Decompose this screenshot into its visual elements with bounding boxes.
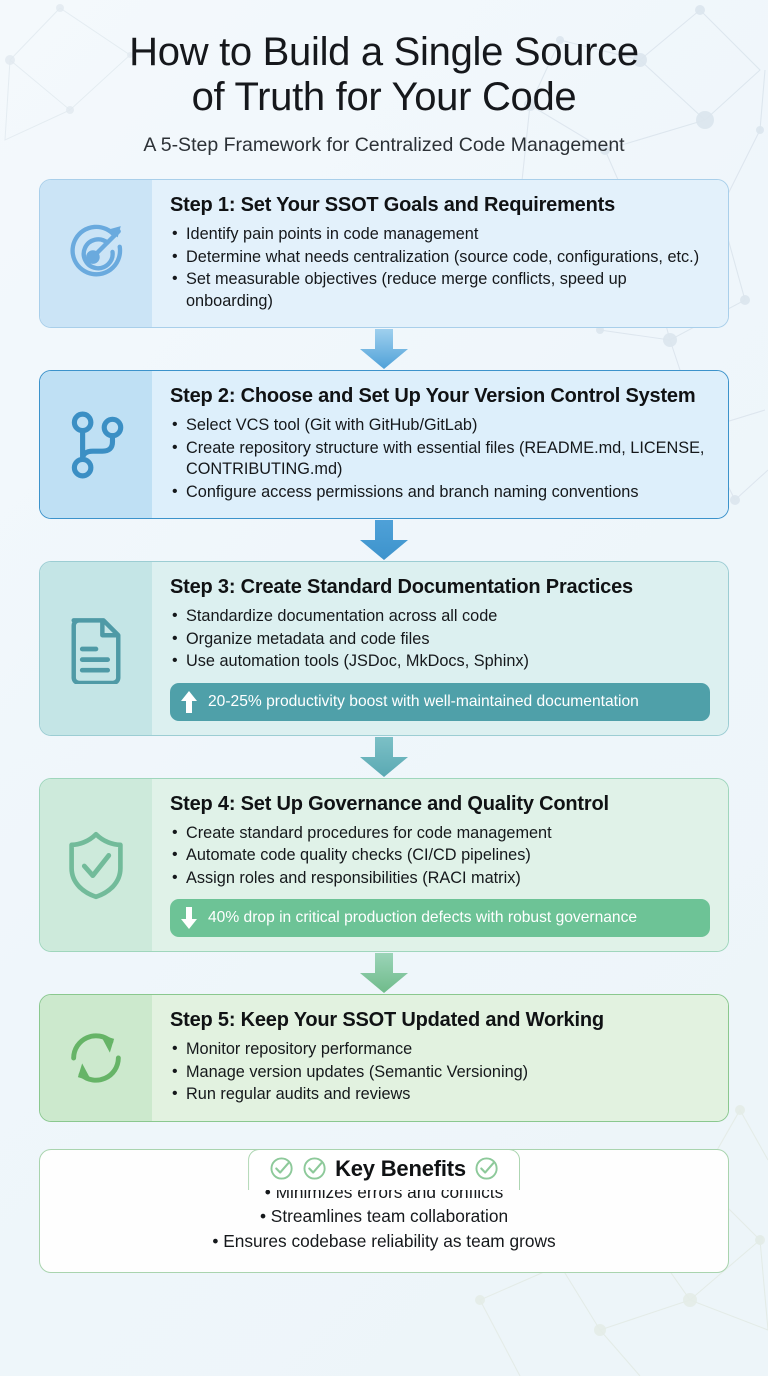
page-subtitle: A 5-Step Framework for Centralized Code … (40, 134, 728, 157)
step-2-bullets: Select VCS tool (Git with GitHub/GitLab)… (170, 415, 710, 503)
step-1-bullets: Identify pain points in code management … (170, 224, 710, 312)
step-card-2: Step 2: Choose and Set Up Your Version C… (39, 370, 729, 519)
bullet: Monitor repository performance (170, 1039, 710, 1061)
header: How to Build a Single Source of Truth fo… (0, 0, 768, 157)
step-4-stat-text: 40% drop in critical production defects … (208, 909, 637, 927)
list-item: Ensures codebase reliability as team gro… (60, 1229, 708, 1254)
steps-list: Step 1: Set Your SSOT Goals and Requirem… (0, 179, 768, 1122)
git-branch-icon (66, 410, 126, 480)
bullet: Identify pain points in code management (170, 224, 710, 246)
connector-1-2 (39, 328, 729, 370)
step-3-body: Step 3: Create Standard Documentation Pr… (152, 562, 728, 735)
connector-2-3 (39, 519, 729, 561)
bullet: Select VCS tool (Git with GitHub/GitLab) (170, 415, 710, 437)
infographic-page: How to Build a Single Source of Truth fo… (0, 0, 768, 1376)
step-3-icon-panel (40, 562, 152, 735)
step-2-icon-panel (40, 371, 152, 518)
step-card-4: Step 4: Set Up Governance and Quality Co… (39, 778, 729, 953)
bullet: Run regular audits and reviews (170, 1084, 710, 1106)
step-4-title: Step 4: Set Up Governance and Quality Co… (170, 793, 710, 816)
target-icon (63, 221, 129, 287)
bullet: Use automation tools (JSDoc, MkDocs, Sph… (170, 651, 710, 673)
key-benefits-list: Minimizes errors and conflicts Streamlin… (60, 1180, 708, 1254)
page-title: How to Build a Single Source of Truth fo… (40, 30, 728, 120)
step-4-body: Step 4: Set Up Governance and Quality Co… (152, 779, 728, 952)
arrow-down-icon (354, 329, 414, 369)
key-benefits-section: Key Benefits Minimizes errors and confli… (39, 1149, 729, 1273)
shield-check-icon (65, 830, 127, 900)
title-line-1: How to Build a Single Source (129, 30, 639, 74)
title-line-2: of Truth for Your Code (192, 75, 577, 119)
bullet: Manage version updates (Semantic Version… (170, 1062, 710, 1084)
step-3-stat-banner: 20-25% productivity boost with well-main… (170, 683, 710, 721)
step-5-bullets: Monitor repository performance Manage ve… (170, 1039, 710, 1106)
arrow-up-icon (180, 690, 198, 714)
step-3-title: Step 3: Create Standard Documentation Pr… (170, 576, 710, 599)
step-5-body: Step 5: Keep Your SSOT Updated and Worki… (152, 995, 728, 1121)
bullet: Create repository structure with essenti… (170, 438, 710, 481)
check-circle-icon (269, 1156, 294, 1181)
step-1-body: Step 1: Set Your SSOT Goals and Requirem… (152, 180, 728, 327)
step-1-title: Step 1: Set Your SSOT Goals and Requirem… (170, 194, 710, 217)
connector-4-5 (39, 952, 729, 994)
arrow-down-icon (354, 520, 414, 560)
arrow-down-icon (354, 737, 414, 777)
step-4-stat-banner: 40% drop in critical production defects … (170, 899, 710, 937)
bullet: Set measurable objectives (reduce merge … (170, 269, 710, 312)
key-benefits-tab: Key Benefits (248, 1149, 520, 1190)
bullet: Create standard procedures for code mana… (170, 823, 710, 845)
step-4-icon-panel (40, 779, 152, 952)
arrow-down-icon (180, 906, 198, 930)
step-5-icon-panel (40, 995, 152, 1121)
bullet: Determine what needs centralization (sou… (170, 247, 710, 269)
step-2-body: Step 2: Choose and Set Up Your Version C… (152, 371, 728, 518)
bullet: Automate code quality checks (CI/CD pipe… (170, 845, 710, 867)
step-3-stat-text: 20-25% productivity boost with well-main… (208, 693, 639, 711)
step-card-1: Step 1: Set Your SSOT Goals and Requirem… (39, 179, 729, 328)
bullet: Organize metadata and code files (170, 629, 710, 651)
bullet: Standardize documentation across all cod… (170, 606, 710, 628)
refresh-cycle-icon (63, 1025, 129, 1091)
document-icon (67, 614, 125, 684)
check-circle-icon (474, 1156, 499, 1181)
key-benefits-title: Key Benefits (335, 1156, 466, 1182)
step-card-3: Step 3: Create Standard Documentation Pr… (39, 561, 729, 736)
step-4-bullets: Create standard procedures for code mana… (170, 823, 710, 890)
arrow-down-icon (354, 953, 414, 993)
connector-3-4 (39, 736, 729, 778)
step-card-5: Step 5: Keep Your SSOT Updated and Worki… (39, 994, 729, 1122)
step-3-bullets: Standardize documentation across all cod… (170, 606, 710, 673)
step-2-title: Step 2: Choose and Set Up Your Version C… (170, 385, 710, 408)
bullet: Assign roles and responsibilities (RACI … (170, 868, 710, 890)
check-circle-icon (302, 1156, 327, 1181)
step-1-icon-panel (40, 180, 152, 327)
bullet: Configure access permissions and branch … (170, 482, 710, 504)
list-item: Streamlines team collaboration (60, 1204, 708, 1229)
step-5-title: Step 5: Keep Your SSOT Updated and Worki… (170, 1009, 710, 1032)
